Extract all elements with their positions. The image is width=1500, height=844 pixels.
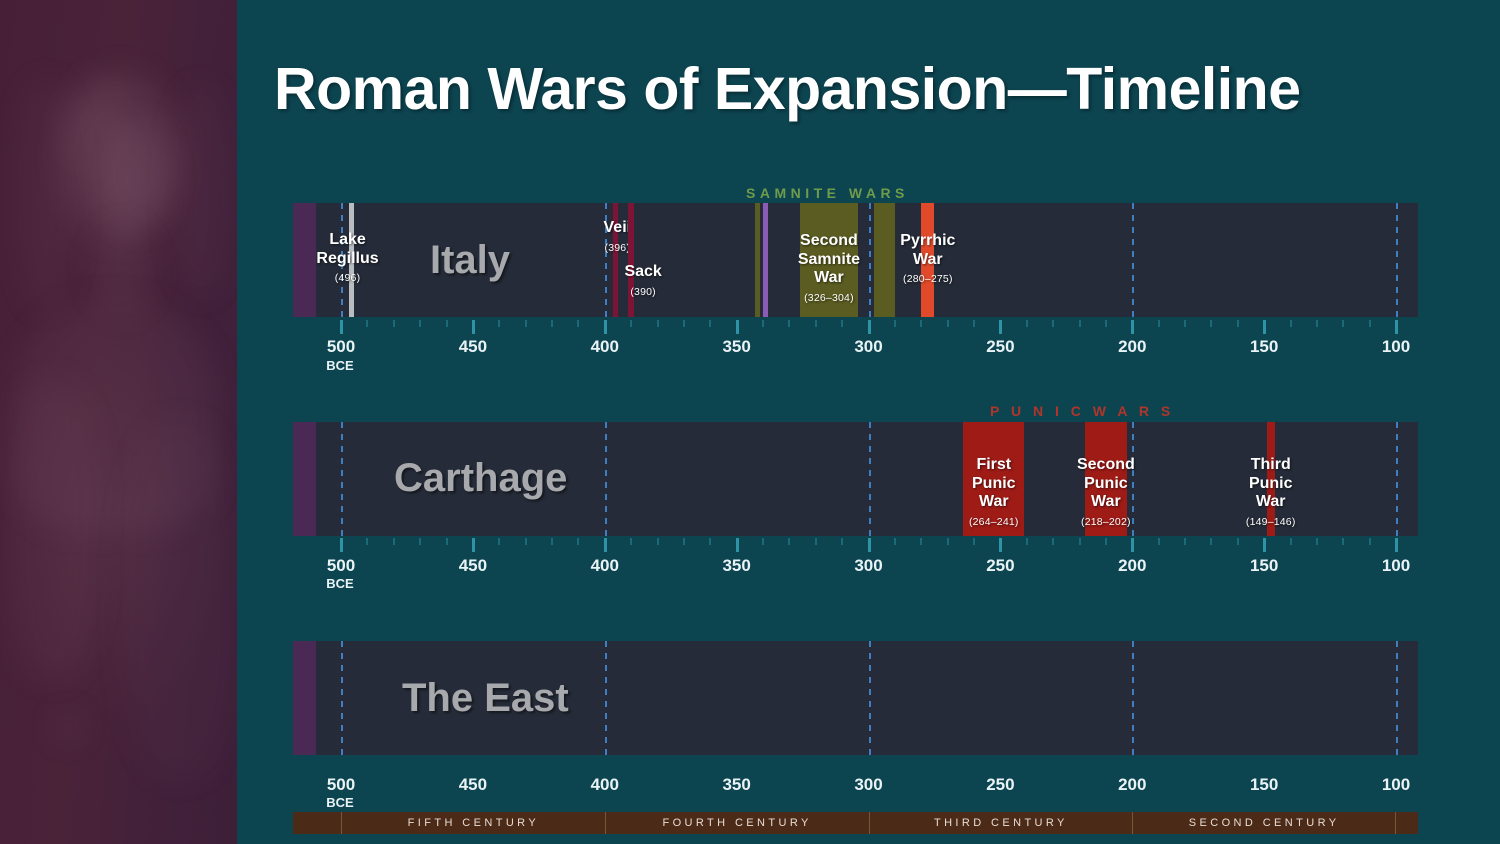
axis-sublabel-bce: BCE <box>326 576 353 591</box>
axis-tick-minor-190 <box>1158 320 1160 327</box>
axis-tick-major-450 <box>472 538 475 552</box>
axis-tick-minor-280 <box>920 320 922 327</box>
axis-tick-minor-370 <box>683 538 685 545</box>
axis-tick-major-350 <box>736 538 739 552</box>
axis-tick-minor-130 <box>1316 538 1318 545</box>
axis-tick-minor-180 <box>1184 320 1186 327</box>
axis-tick-minor-170 <box>1210 320 1212 327</box>
axis-tick-minor-330 <box>788 320 790 327</box>
axis-tick-minor-420 <box>551 538 553 545</box>
axis-tick-major-500 <box>340 538 343 552</box>
axis-tick-minor-120 <box>1342 320 1344 327</box>
axis-tick-minor-180 <box>1184 538 1186 545</box>
axis-label-450: 450 <box>459 775 487 795</box>
axis-tick-major-100 <box>1395 538 1398 552</box>
axis-tick-minor-440 <box>498 538 500 545</box>
axis-tick-minor-480 <box>393 320 395 327</box>
axis-tick-major-500 <box>340 320 343 334</box>
event-years: (390) <box>608 286 678 298</box>
axis-tick-minor-410 <box>577 320 579 327</box>
century-divider-300 <box>869 203 871 317</box>
axis-tick-minor-160 <box>1237 320 1239 327</box>
century-divider-500 <box>341 422 343 536</box>
century-divider-300 <box>869 641 871 755</box>
axis-tick-minor-280 <box>920 538 922 545</box>
event-bar-italy-2[interactable] <box>628 203 633 317</box>
event-bar-italy-7[interactable] <box>921 203 934 317</box>
axis-tick-minor-140 <box>1290 320 1292 327</box>
axis-label-350: 350 <box>722 337 750 357</box>
axis-tick-minor-390 <box>630 320 632 327</box>
axis-label-400: 400 <box>591 775 619 795</box>
axis-label-150: 150 <box>1250 556 1278 576</box>
axis-tick-major-400 <box>604 538 607 552</box>
century-divider-500 <box>341 641 343 755</box>
axis-sublabel-bce: BCE <box>326 358 353 373</box>
axis-label-300: 300 <box>854 337 882 357</box>
event-bar-italy-6[interactable] <box>874 203 895 317</box>
axis-label-150: 150 <box>1250 337 1278 357</box>
axis-tick-major-250 <box>999 538 1002 552</box>
axis-label-100: 100 <box>1382 775 1410 795</box>
event-bar-italy-3[interactable] <box>755 203 760 317</box>
band-start-block-carthage <box>293 422 316 536</box>
axis-label-500: 500 <box>327 337 355 357</box>
century-cell-3: SECOND CENTURY <box>1132 812 1396 834</box>
century-divider-400 <box>605 641 607 755</box>
axis-tick-minor-360 <box>709 538 711 545</box>
axis-tick-minor-170 <box>1210 538 1212 545</box>
century-cell-1: FOURTH CENTURY <box>605 812 869 834</box>
century-divider-400 <box>605 203 607 317</box>
century-divider-200 <box>1132 203 1134 317</box>
axis-tick-major-200 <box>1131 320 1134 334</box>
axis-tick-minor-220 <box>1079 320 1081 327</box>
event-bar-carthage-2[interactable] <box>1267 422 1275 536</box>
axis-tick-major-300 <box>868 538 871 552</box>
axis-tick-minor-160 <box>1237 538 1239 545</box>
axis-tick-major-350 <box>736 320 739 334</box>
axis-tick-major-450 <box>472 320 475 334</box>
page-title: Roman Wars of Expansion—Timeline <box>274 55 1301 123</box>
event-bar-italy-5[interactable] <box>800 203 858 317</box>
axis-label-200: 200 <box>1118 775 1146 795</box>
event-bar-carthage-0[interactable] <box>963 422 1024 536</box>
axis-sublabel-bce: BCE <box>326 795 353 810</box>
axis-tick-minor-360 <box>709 320 711 327</box>
axis-tick-minor-230 <box>1052 320 1054 327</box>
axis-label-100: 100 <box>1382 337 1410 357</box>
event-bar-italy-1[interactable] <box>613 203 618 317</box>
axis-tick-minor-370 <box>683 320 685 327</box>
group-label-italy: SAMNITE WARS <box>746 185 909 201</box>
band-start-block-italy <box>293 203 316 317</box>
statue-background-panel <box>0 0 237 844</box>
group-label-carthage: P U N I C W A R S <box>990 403 1174 419</box>
axis-tick-minor-240 <box>1026 320 1028 327</box>
axis-tick-minor-390 <box>630 538 632 545</box>
event-bar-carthage-1[interactable] <box>1085 422 1127 536</box>
band-start-block-east <box>293 641 316 755</box>
statue-hair-right <box>172 86 230 296</box>
axis-tick-minor-310 <box>841 538 843 545</box>
century-cell-2: THIRD CENTURY <box>869 812 1133 834</box>
band-label-east: The East <box>402 676 569 721</box>
statue-drape-right <box>120 420 237 780</box>
axis-label-250: 250 <box>986 775 1014 795</box>
axis-tick-minor-270 <box>947 538 949 545</box>
statue-detail-mark <box>56 714 82 740</box>
axis-tick-minor-380 <box>657 320 659 327</box>
century-divider-100 <box>1396 422 1398 536</box>
event-label-italy-2: Sack(390) <box>608 263 678 298</box>
axis-label-450: 450 <box>459 337 487 357</box>
axis-label-500: 500 <box>327 556 355 576</box>
axis-label-350: 350 <box>722 775 750 795</box>
century-divider-200 <box>1132 641 1134 755</box>
axis-tick-minor-380 <box>657 538 659 545</box>
axis-tick-minor-290 <box>894 538 896 545</box>
axis-tick-major-150 <box>1263 320 1266 334</box>
century-divider-400 <box>605 422 607 536</box>
axis-tick-minor-460 <box>446 320 448 327</box>
axis-label-400: 400 <box>591 556 619 576</box>
axis-label-150: 150 <box>1250 775 1278 795</box>
axis-tick-minor-340 <box>762 320 764 327</box>
axis-tick-minor-480 <box>393 538 395 545</box>
axis-tick-minor-470 <box>419 320 421 327</box>
axis-label-250: 250 <box>986 337 1014 357</box>
band-label-carthage: Carthage <box>394 456 567 501</box>
axis-label-450: 450 <box>459 556 487 576</box>
axis-tick-minor-110 <box>1369 320 1371 327</box>
axis-tick-minor-420 <box>551 320 553 327</box>
axis-tick-minor-410 <box>577 538 579 545</box>
axis-tick-minor-320 <box>815 538 817 545</box>
band-label-italy: Italy <box>430 238 510 283</box>
axis-tick-minor-230 <box>1052 538 1054 545</box>
axis-tick-minor-260 <box>973 538 975 545</box>
axis-tick-minor-430 <box>525 538 527 545</box>
axis-tick-minor-470 <box>419 538 421 545</box>
event-bar-italy-4[interactable] <box>763 203 768 317</box>
axis-label-200: 200 <box>1118 337 1146 357</box>
century-divider-100 <box>1396 641 1398 755</box>
axis-tick-minor-290 <box>894 320 896 327</box>
axis-label-350: 350 <box>722 556 750 576</box>
axis-tick-minor-340 <box>762 538 764 545</box>
axis-tick-major-200 <box>1131 538 1134 552</box>
axis-tick-minor-260 <box>973 320 975 327</box>
axis-tick-minor-210 <box>1105 538 1107 545</box>
century-divider-300 <box>869 422 871 536</box>
axis-tick-major-250 <box>999 320 1002 334</box>
axis-tick-minor-130 <box>1316 320 1318 327</box>
axis-tick-minor-140 <box>1290 538 1292 545</box>
axis-tick-minor-210 <box>1105 320 1107 327</box>
event-bar-italy-0[interactable] <box>349 203 354 317</box>
axis-tick-minor-310 <box>841 320 843 327</box>
statue-face <box>100 120 170 230</box>
statue-drape-left <box>4 380 100 680</box>
century-scale-bar: FIFTH CENTURYFOURTH CENTURYTHIRD CENTURY… <box>293 812 1418 834</box>
axis-label-400: 400 <box>591 337 619 357</box>
axis-label-250: 250 <box>986 556 1014 576</box>
axis-tick-major-150 <box>1263 538 1266 552</box>
axis-tick-major-300 <box>868 320 871 334</box>
axis-label-500: 500 <box>327 775 355 795</box>
century-cell-0: FIFTH CENTURY <box>341 812 605 834</box>
axis-tick-minor-330 <box>788 538 790 545</box>
axis-tick-minor-110 <box>1369 538 1371 545</box>
axis-tick-major-100 <box>1395 320 1398 334</box>
axis-label-200: 200 <box>1118 556 1146 576</box>
axis-tick-minor-240 <box>1026 538 1028 545</box>
century-divider-500 <box>341 203 343 317</box>
axis-label-100: 100 <box>1382 556 1410 576</box>
axis-tick-minor-320 <box>815 320 817 327</box>
axis-tick-major-400 <box>604 320 607 334</box>
axis-tick-minor-430 <box>525 320 527 327</box>
axis-tick-minor-120 <box>1342 538 1344 545</box>
century-divider-100 <box>1396 203 1398 317</box>
axis-label-300: 300 <box>854 775 882 795</box>
statue-hair-left <box>16 80 76 310</box>
axis-label-300: 300 <box>854 556 882 576</box>
century-divider-200 <box>1132 422 1134 536</box>
event-name: Sack <box>608 263 678 282</box>
axis-tick-minor-460 <box>446 538 448 545</box>
axis-tick-minor-220 <box>1079 538 1081 545</box>
axis-tick-minor-270 <box>947 320 949 327</box>
axis-tick-minor-490 <box>366 320 368 327</box>
axis-tick-minor-490 <box>366 538 368 545</box>
axis-tick-minor-190 <box>1158 538 1160 545</box>
axis-tick-minor-440 <box>498 320 500 327</box>
